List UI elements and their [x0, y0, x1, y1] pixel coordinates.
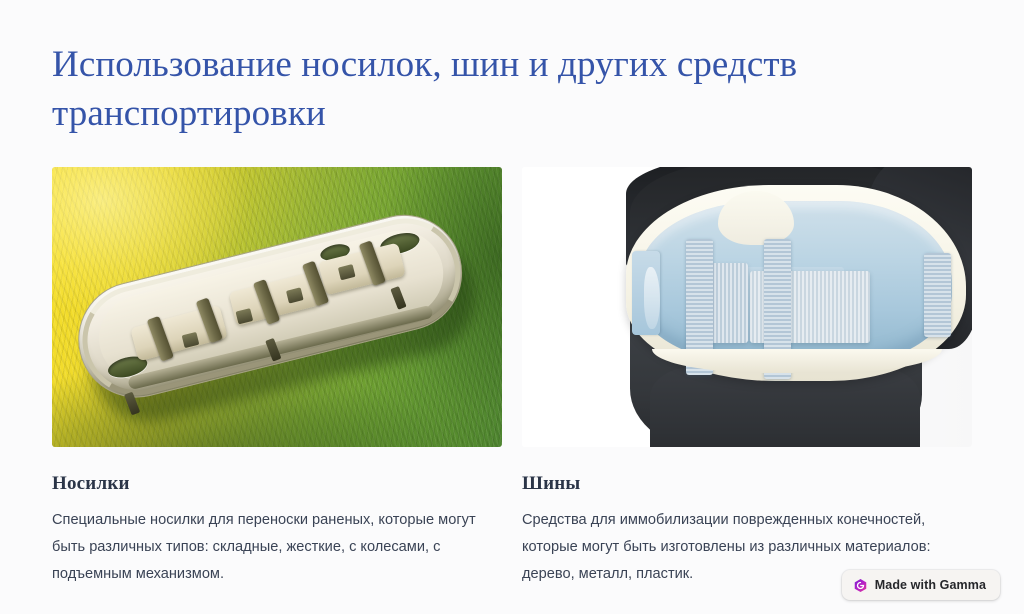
card-body-stretcher: Специальные носилки для переноски ранены… — [52, 507, 482, 588]
card-heading-stretcher: Носилки — [52, 473, 502, 495]
gamma-badge-label: Made with Gamma — [875, 578, 986, 592]
slide-canvas: Использование носилок, шин и других сред… — [0, 0, 1024, 614]
gamma-logo-icon — [853, 578, 868, 593]
grass-background — [52, 167, 502, 447]
card-heading-splint: Шины — [522, 473, 972, 495]
stretcher-photo — [52, 167, 502, 447]
brace-background — [522, 167, 972, 447]
made-with-gamma-badge[interactable]: Made with Gamma — [842, 570, 1000, 600]
card-splint: Шины Средства для иммобилизации поврежде… — [522, 167, 972, 588]
page-title: Использование носилок, шин и других сред… — [52, 40, 852, 138]
cards-row: Носилки Специальные носилки для переноск… — [52, 167, 972, 588]
card-stretcher: Носилки Специальные носилки для переноск… — [52, 167, 502, 588]
brace-vertical-strap — [924, 253, 951, 337]
splint-brace-photo — [522, 167, 972, 447]
